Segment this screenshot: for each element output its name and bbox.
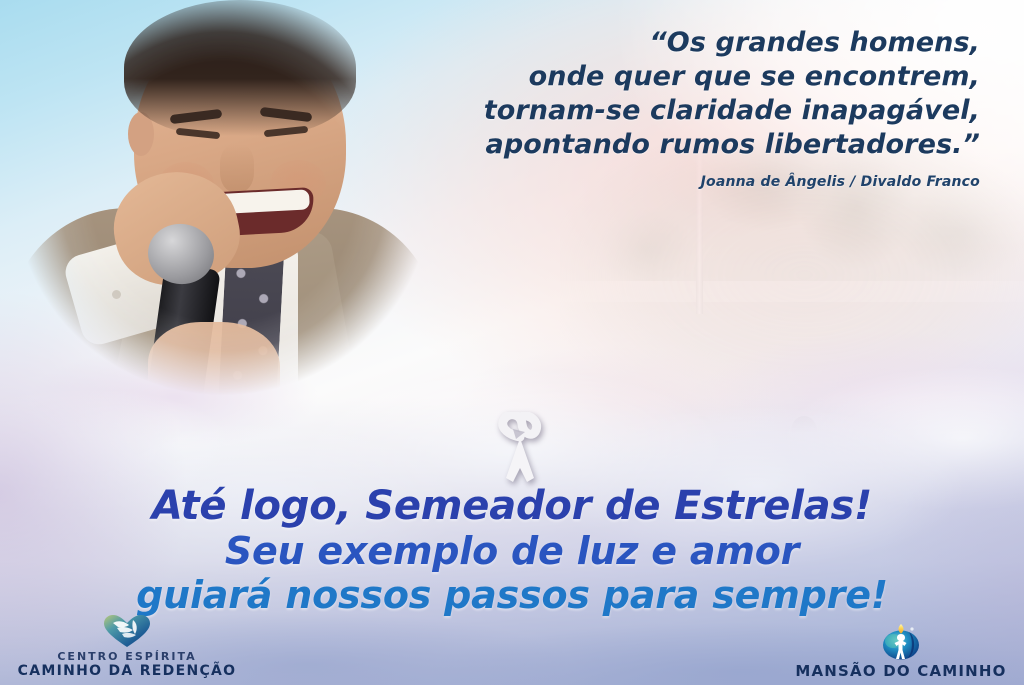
headline-line-1: Até logo, Semeador de Estrelas! — [0, 484, 1024, 529]
headline-block: Até logo, Semeador de Estrelas! Seu exem… — [0, 484, 1024, 617]
globe-with-figure-and-flame-icon — [879, 623, 923, 661]
portrait-hair — [124, 0, 356, 136]
logo-centro-espirita-caminho-da-redencao[interactable]: CENTRO ESPÍRITA CAMINHO DA REDENÇÃO — [14, 614, 240, 679]
logo-right-line-1: MANSÃO DO CAMINHO — [788, 663, 1014, 679]
quote-block: “Os grandes homens, onde quer que se enc… — [420, 26, 980, 190]
headline-line-3: guiará nossos passos para sempre! — [0, 573, 1024, 617]
logo-left-line-2: CAMINHO DA REDENÇÃO — [14, 663, 240, 679]
white-ribbon-icon — [489, 412, 551, 490]
portrait-hand-holding-microphone — [148, 322, 280, 424]
quote-line-3: tornam-se claridade inapagável, — [420, 94, 980, 128]
portrait-nose — [220, 144, 254, 192]
heart-with-hands-icon — [103, 614, 151, 648]
logo-left-line-1: CENTRO ESPÍRITA — [14, 650, 240, 663]
portrait-cuff-button — [112, 290, 121, 299]
quote-line-1: “Os grandes homens, — [420, 26, 980, 60]
headline-line-2: Seu exemplo de luz e amor — [0, 529, 1024, 573]
quote-attribution: Joanna de Ângelis / Divaldo Franco — [420, 174, 980, 190]
memorial-tribute-image: “Os grandes homens, onde quer que se enc… — [0, 0, 1024, 685]
logo-mansao-do-caminho[interactable]: MANSÃO DO CAMINHO — [788, 623, 1014, 679]
quote-line-2: onde quer que se encontrem, — [420, 60, 980, 94]
quote-line-4: apontando rumos libertadores.” — [420, 128, 980, 162]
portrait-photo — [8, 0, 438, 424]
